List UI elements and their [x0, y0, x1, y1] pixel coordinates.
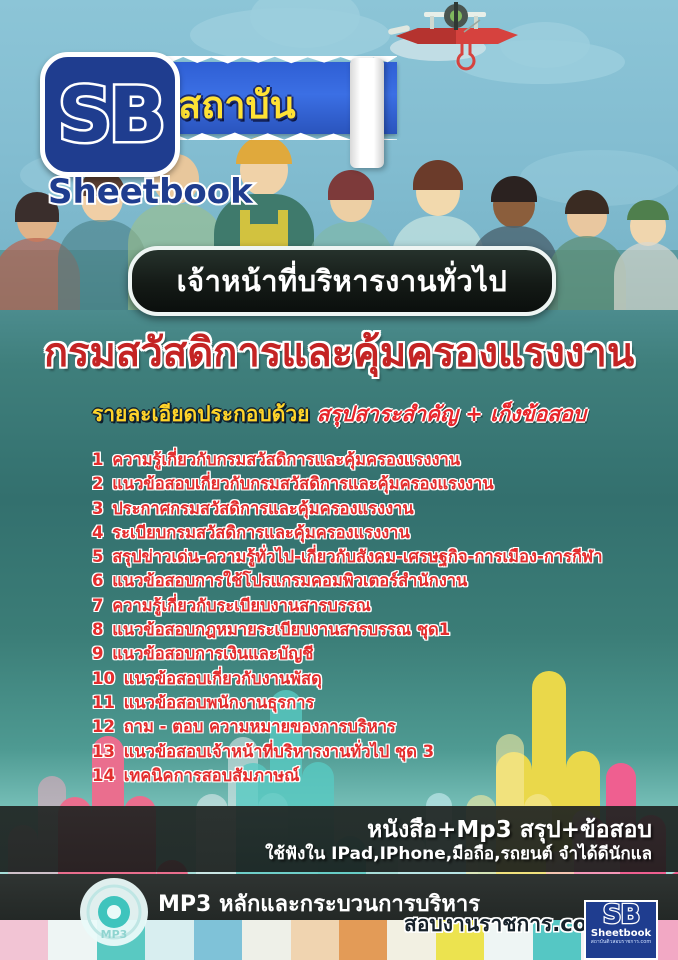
sb-letters: SB	[58, 77, 163, 153]
contents-item: 4 ระเบียบกรมสวัสดิการและคุ้มครองแรงงาน	[92, 521, 672, 545]
contents-item-text: ความรู้เกี่ยวกับระเบียบงานสารบรรณ	[112, 596, 371, 615]
paper-curl-decoration	[350, 58, 384, 168]
contents-item: 3 ประกาศกรมสวัสดิการและคุ้มครองแรงงาน	[92, 497, 672, 521]
contents-item-number: 5	[92, 547, 103, 566]
contents-item-text: ระเบียบกรมสวัสดิการและคุ้มครองแรงงาน	[112, 523, 410, 542]
contents-item-text: เทคนิคการสอบสัมภาษณ์	[124, 766, 300, 785]
footer-brand-sub: สถาบันติวสอบราชการ.com	[586, 939, 656, 946]
contents-item-text: แนวข้อสอบเกี่ยวกับกรมสวัสดิการและคุ้มครอ…	[112, 474, 493, 493]
torn-banner-label: สถาบัน	[178, 74, 296, 135]
contents-item-number: 9	[92, 644, 103, 663]
contents-item: 2 แนวข้อสอบเกี่ยวกับกรมสวัสดิการและคุ้มค…	[92, 472, 672, 496]
website-url[interactable]: สอบงานราชการ.com	[404, 908, 609, 941]
contents-item: 6 แนวข้อสอบการใช้โปรแกรมคอมพิวเตอร์สำนัก…	[92, 569, 672, 593]
book-cover: สถาบัน SB Sheetbook	[0, 0, 678, 960]
contents-item: 1 ความรู้เกี่ยวกับกรมสวัสดิการและคุ้มครอ…	[92, 448, 672, 472]
subtitle-emphasis: สรุปสาระสำคัญ + เก็งข้อสอบ	[317, 402, 586, 426]
page-title: กรมสวัสดิการและคุ้มครองแรงงาน	[0, 320, 678, 384]
job-title-plate: เจ้าหน้าที่บริหารงานทั่วไป	[128, 246, 556, 316]
contents-item-text: ถาม - ตอบ ความหมายของการบริหาร	[124, 717, 396, 736]
contents-item: 11 แนวข้อสอบพนักงานธุรการ	[92, 691, 672, 715]
subtitle: รายละเอียดประกอบด้วย สรุปสาระสำคัญ + เก็…	[0, 398, 678, 431]
contents-item: 13 แนวข้อสอบเจ้าหน้าที่บริหารงานทั่วไป ช…	[92, 740, 672, 764]
contents-item-number: 2	[92, 474, 103, 493]
contents-item-number: 11	[92, 693, 115, 712]
footer-sb-letters: SB	[586, 902, 656, 928]
contents-item-text: แนวข้อสอบการใช้โปรแกรมคอมพิวเตอร์สำนักงา…	[112, 571, 467, 590]
job-title-text: เจ้าหน้าที่บริหารงานทั่วไป	[177, 258, 508, 304]
person-figure	[614, 200, 678, 310]
contents-item-number: 13	[92, 742, 115, 761]
contents-item-text: แนวข้อสอบเจ้าหน้าที่บริหารงานทั่วไป ชุด …	[124, 742, 434, 761]
sb-badge: SB	[40, 52, 180, 177]
mp3-disc-icon: MP3	[78, 876, 150, 948]
mp3-disc-label: MP3	[101, 928, 128, 941]
contents-item: 12 ถาม - ตอบ ความหมายของการบริหาร	[92, 715, 672, 739]
contents-item-text: แนวข้อสอบเกี่ยวกับงานพัสดุ	[124, 669, 322, 688]
contents-item-number: 3	[92, 499, 103, 518]
subtitle-lead: รายละเอียดประกอบด้วย	[92, 402, 310, 426]
contents-item-number: 4	[92, 523, 103, 542]
contents-item: 10 แนวข้อสอบเกี่ยวกับงานพัสดุ	[92, 667, 672, 691]
contents-item-number: 7	[92, 596, 103, 615]
contents-item-text: แนวข้อสอบกฎหมายระเบียบงานสารบรรณ ชุด1	[112, 620, 450, 639]
contents-list: 1 ความรู้เกี่ยวกับกรมสวัสดิการและคุ้มครอ…	[92, 448, 672, 788]
footer-sheetbook-label: Sheetbook	[586, 928, 656, 939]
contents-item-text: ประกาศกรมสวัสดิการและคุ้มครองแรงงาน	[112, 499, 413, 518]
contents-item-number: 8	[92, 620, 103, 639]
contents-item: 9 แนวข้อสอบการเงินและบัญชี	[92, 642, 672, 666]
contents-item: 7 ความรู้เกี่ยวกับระเบียบงานสารบรรณ	[92, 594, 672, 618]
contents-item-number: 1	[92, 450, 103, 469]
contents-item: 5 สรุปข่าวเด่น-ความรู้ทั่วไป-เกี่ยวกับสั…	[92, 545, 672, 569]
contents-item-text: สรุปข่าวเด่น-ความรู้ทั่วไป-เกี่ยวกับสังค…	[112, 547, 602, 566]
contents-item-text: ความรู้เกี่ยวกับกรมสวัสดิการและคุ้มครองแ…	[112, 450, 460, 469]
airplane-icon	[378, 2, 548, 72]
contents-item-number: 14	[92, 766, 115, 785]
contents-item-number: 6	[92, 571, 103, 590]
contents-item: 8 แนวข้อสอบกฎหมายระเบียบงานสารบรรณ ชุด1	[92, 618, 672, 642]
contents-item-number: 10	[92, 669, 115, 688]
contents-item-text: แนวข้อสอบการเงินและบัญชี	[112, 644, 313, 663]
footer-brand-badge[interactable]: SB Sheetbook สถาบันติวสอบราชการ.com	[584, 900, 658, 960]
contents-item: 14 เทคนิคการสอบสัมภาษณ์	[92, 764, 672, 788]
promo-line-2: ใช้ฟังใน IPad,IPhone,มือถือ,รถยนต์ จำได้…	[265, 840, 652, 867]
contents-item-text: แนวข้อสอบพนักงานธุรการ	[124, 693, 315, 712]
sheetbook-wordmark: Sheetbook	[48, 172, 253, 212]
contents-item-number: 12	[92, 717, 115, 736]
